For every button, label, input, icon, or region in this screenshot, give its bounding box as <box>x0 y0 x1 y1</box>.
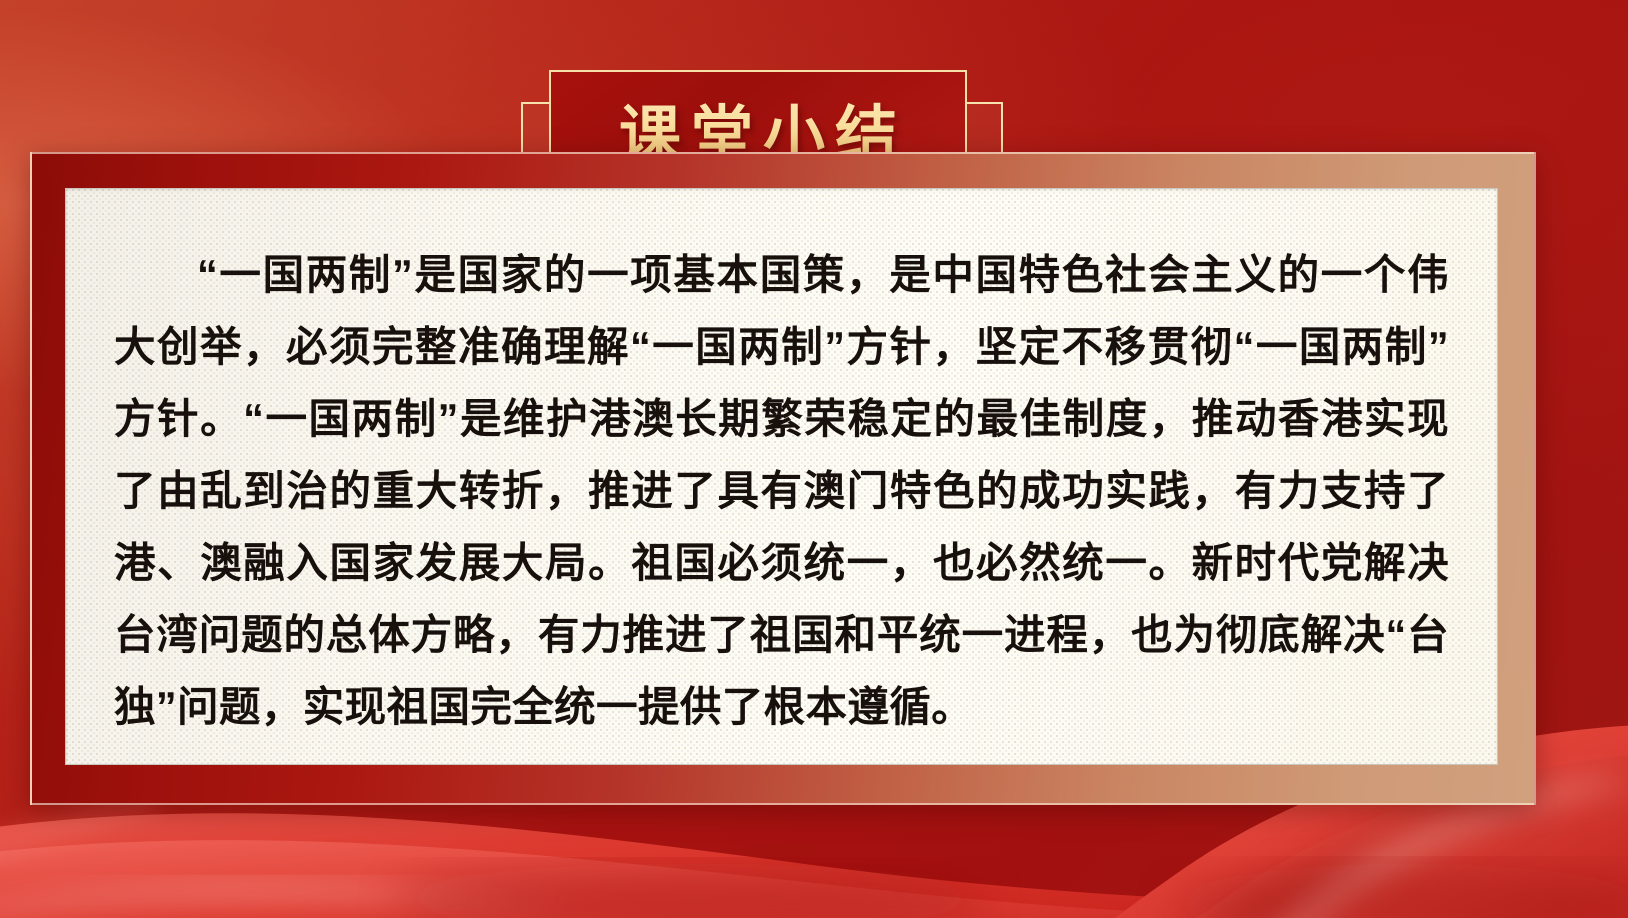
paper-surface: “一国两制”是国家的一项基本国策，是中国特色社会主义的一个伟大创举，必须完整准确… <box>65 188 1498 765</box>
slide-root: 课堂小结 “一国两制”是国家的一项基本国策，是中国特色社会主义的一个伟大创举，必… <box>0 0 1628 918</box>
summary-paragraph: “一国两制”是国家的一项基本国策，是中国特色社会主义的一个伟大创举，必须完整准确… <box>114 239 1449 743</box>
content-frame: “一国两制”是国家的一项基本国策，是中国特色社会主义的一个伟大创举，必须完整准确… <box>30 152 1536 805</box>
